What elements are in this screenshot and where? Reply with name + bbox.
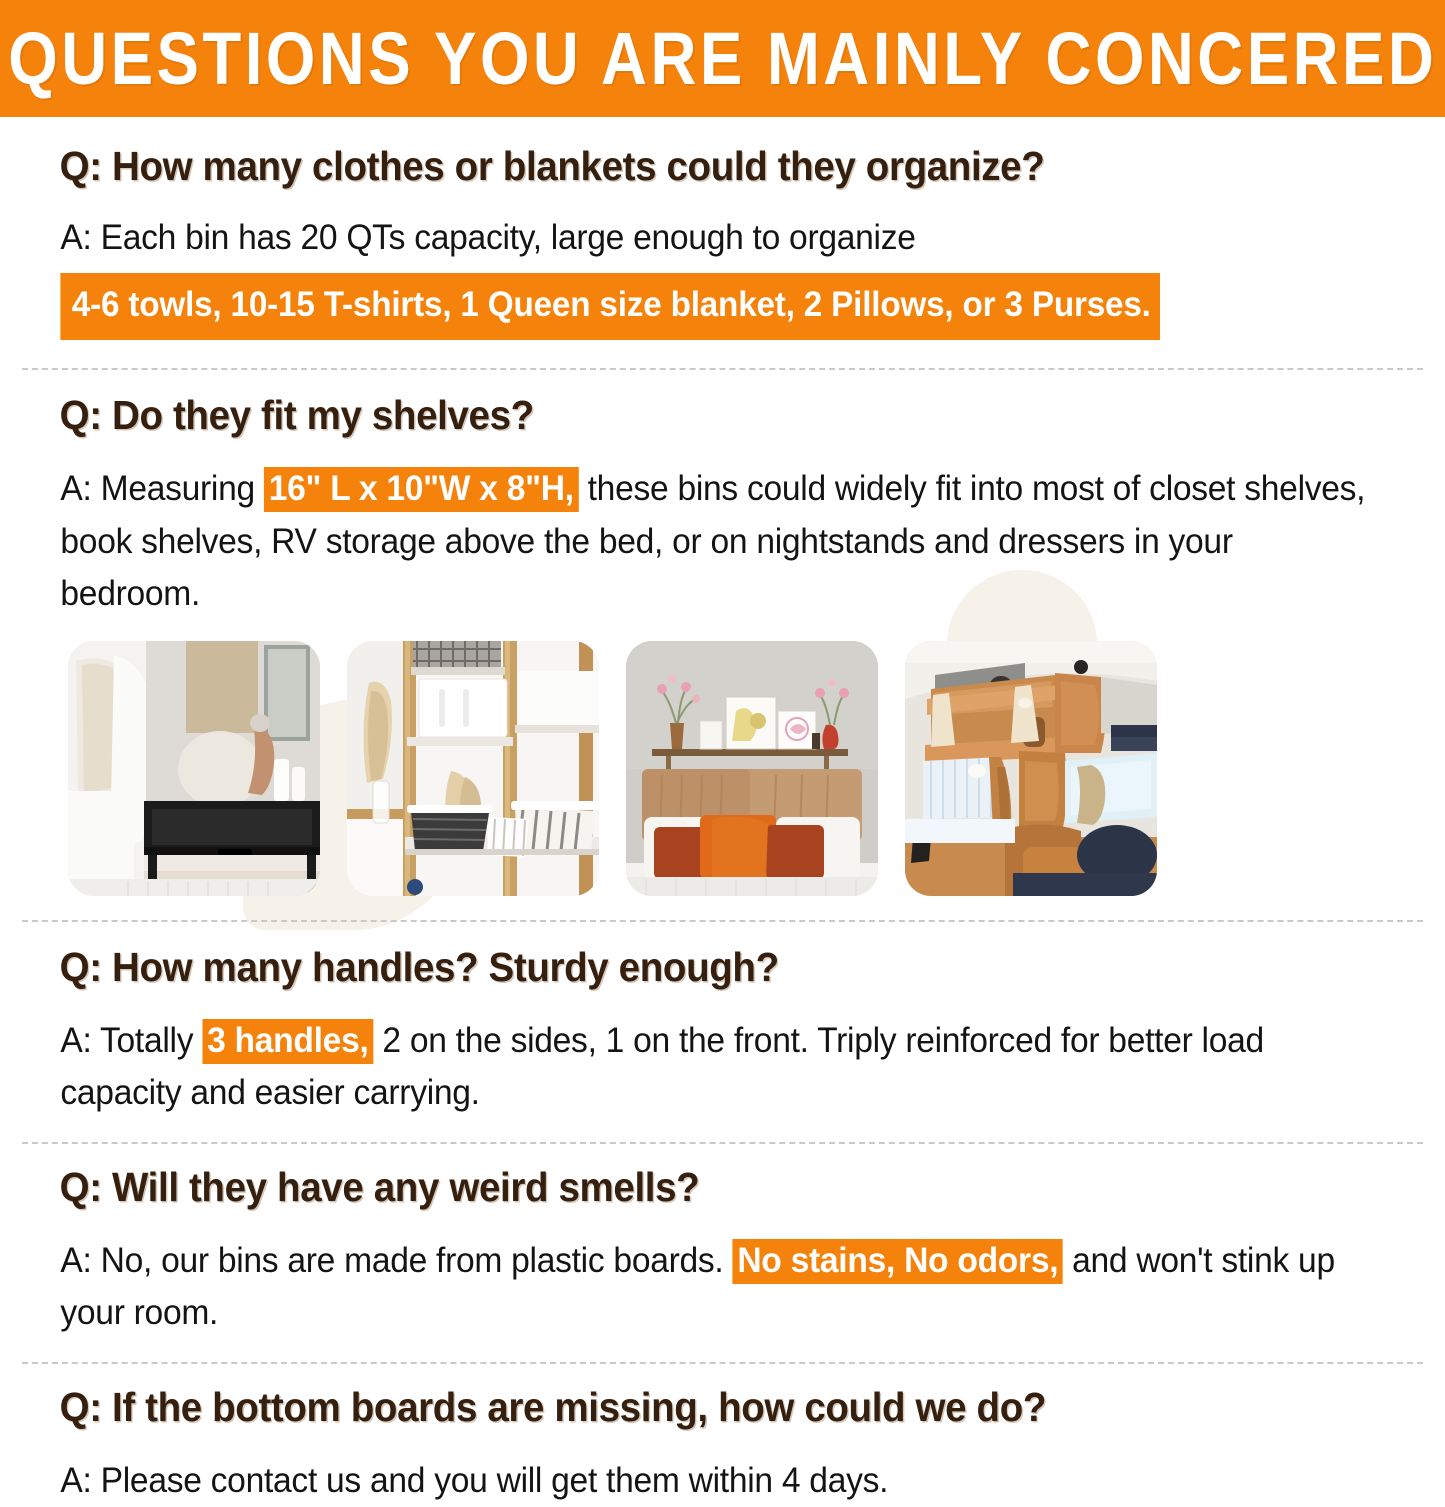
faq-answer-prefix: A: Measuring bbox=[60, 469, 264, 508]
faq-answer-text: A: Each bin has 20 QTs capacity, large e… bbox=[60, 218, 915, 257]
faq-item-smells: Q: Will they have any weird smells? A: N… bbox=[0, 1144, 1445, 1340]
faq-question: Q: Do they fit my shelves? bbox=[22, 392, 1339, 439]
faq-highlight: 3 handles, bbox=[202, 1019, 373, 1064]
faq-answer-prefix: A: No, our bins are made from plastic bo… bbox=[60, 1241, 732, 1280]
faq-answer: A: Please contact us and you will get th… bbox=[22, 1455, 1367, 1507]
photo-shelving[interactable] bbox=[347, 641, 599, 896]
faq-item-shelf-fit: Q: Do they fit my shelves? A: Measuring … bbox=[0, 370, 1445, 621]
page-title: QUESTIONS YOU ARE MAINLY CONCERED bbox=[8, 22, 1437, 96]
faq-highlight-band: 4-6 towls, 10-15 T-shirts, 1 Queen size … bbox=[60, 273, 1160, 341]
section-divider bbox=[22, 920, 1423, 922]
faq-item-bottom-boards: Q: If the bottom boards are missing, how… bbox=[0, 1364, 1445, 1507]
header-banner: QUESTIONS YOU ARE MAINLY CONCERED bbox=[0, 0, 1445, 117]
faq-highlight: 16" L x 10"W x 8"H, bbox=[264, 467, 579, 512]
photo-gallery bbox=[0, 641, 1445, 896]
faq-answer: A: No, our bins are made from plastic bo… bbox=[22, 1235, 1367, 1340]
faq-answer: A: Totally 3 handles, 2 on the sides, 1 … bbox=[22, 1015, 1367, 1120]
faq-question: Q: If the bottom boards are missing, how… bbox=[22, 1384, 1339, 1431]
faq-item-capacity: Q: How many clothes or blankets could th… bbox=[0, 117, 1445, 340]
faq-question: Q: Will they have any weird smells? bbox=[22, 1164, 1339, 1211]
faq-answer-prefix: A: Totally bbox=[60, 1021, 202, 1060]
faq-question: Q: How many handles? Sturdy enough? bbox=[22, 944, 1339, 991]
faq-content: Q: How many clothes or blankets could th… bbox=[0, 117, 1445, 1507]
section-divider bbox=[22, 1142, 1423, 1144]
faq-answer: A: Each bin has 20 QTs capacity, large e… bbox=[22, 212, 1367, 340]
faq-question: Q: How many clothes or blankets could th… bbox=[22, 143, 1339, 190]
faq-item-handles: Q: How many handles? Sturdy enough? A: T… bbox=[0, 922, 1445, 1120]
photo-rv[interactable] bbox=[905, 641, 1157, 896]
photo-nightstand[interactable] bbox=[68, 641, 320, 896]
photo-bedroom[interactable] bbox=[626, 641, 878, 896]
faq-highlight: No stains, No odors, bbox=[733, 1239, 1064, 1284]
faq-answer: A: Measuring 16" L x 10"W x 8"H, these b… bbox=[22, 463, 1367, 621]
section-divider bbox=[22, 1362, 1423, 1364]
section-divider bbox=[22, 368, 1423, 370]
